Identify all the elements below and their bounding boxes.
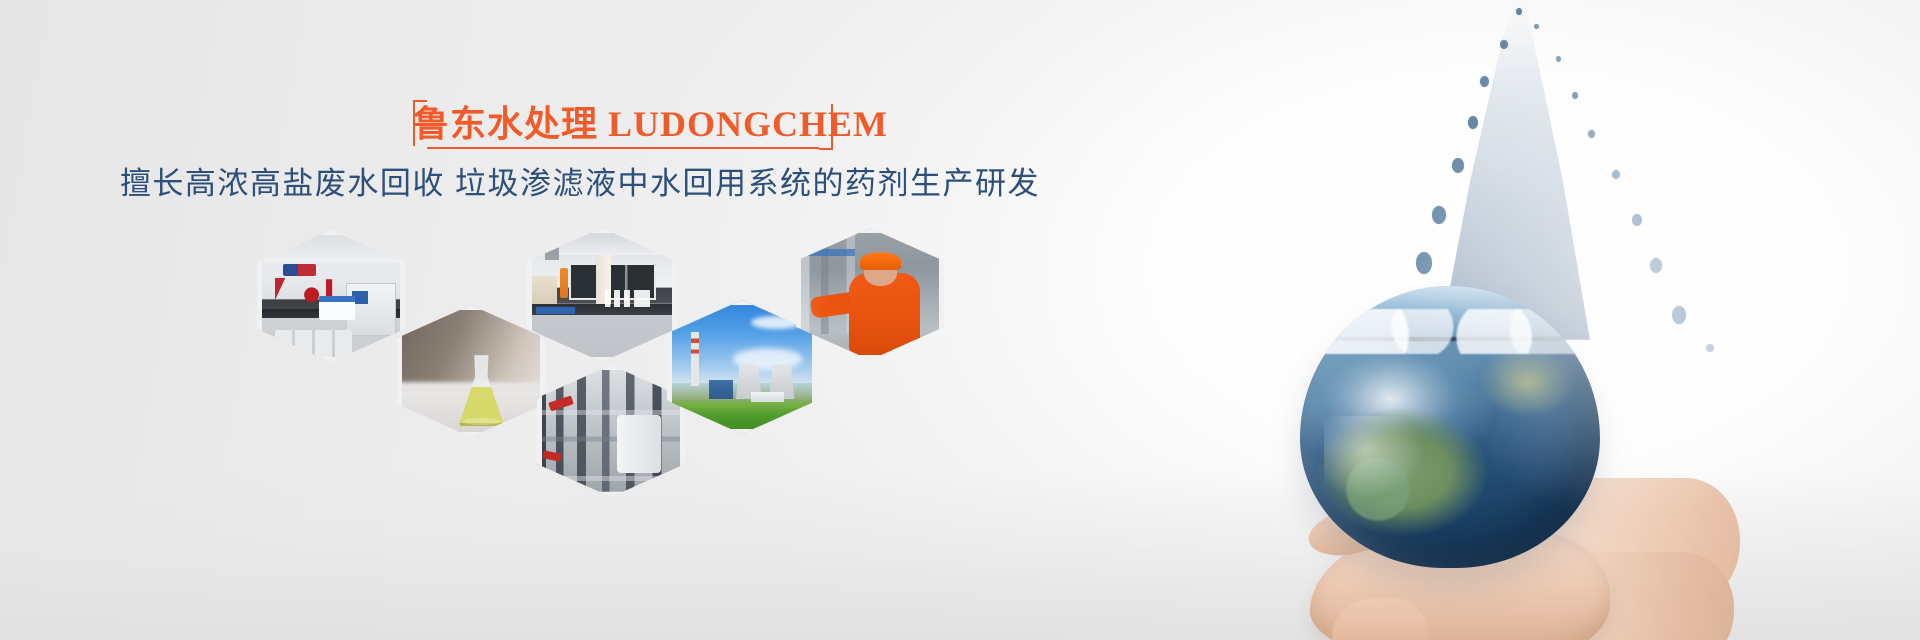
- glassware-bottles: [605, 290, 650, 307]
- lab-jugs: [275, 330, 352, 356]
- globe-foam: [1312, 309, 1588, 354]
- hex-photo-worker: [796, 228, 944, 360]
- green-field: [667, 402, 817, 434]
- ro-rails: [537, 365, 685, 497]
- hex-photo-flask-image: [397, 305, 545, 437]
- hex-photo-power-plant: [667, 300, 817, 434]
- hex-photo-power-plant-image: [667, 300, 817, 434]
- splash-droplet: [1432, 206, 1446, 224]
- splash-droplet: [1480, 76, 1489, 87]
- glassware-beam: [545, 228, 559, 260]
- hex-photo-ro-skid: [537, 365, 685, 497]
- earth-globe-icon: [1300, 286, 1600, 568]
- globe-and-hands: [1300, 268, 1630, 568]
- glassware-orange-stand: [560, 268, 568, 297]
- hex-photo-worker-image: [796, 228, 944, 360]
- splash-droplet: [1452, 158, 1464, 173]
- hex-photo-lab-glassware-image: [527, 228, 677, 362]
- splash-droplet: [1556, 56, 1561, 62]
- splash-droplet: [1468, 116, 1478, 129]
- glassware-ceiling: [527, 228, 677, 255]
- globe-highlight: [1324, 416, 1426, 501]
- hex-photo-lab-room: [257, 230, 405, 362]
- lab-ceiling: [257, 230, 405, 262]
- splash-droplet: [1650, 258, 1662, 273]
- hex-photo-ro-skid-image: [537, 365, 685, 497]
- hexagon-photo-cluster: [0, 0, 1140, 640]
- hex-photo-flask: [397, 305, 545, 437]
- lab-machine: [319, 296, 355, 320]
- splash-droplet: [1534, 24, 1539, 29]
- hex-photo-lab-room-image: [257, 230, 405, 362]
- hero-banner: 鲁东水处理 LUDONGCHEM 擅长高浓高盐废水回收 垃圾渗滤液中水回用系统的…: [0, 0, 1920, 640]
- ro-membrane-vessel: [617, 415, 661, 473]
- hex-photo-lab-glassware: [527, 228, 677, 362]
- splash-droplet: [1500, 40, 1508, 49]
- safety-helmet-icon: [860, 252, 901, 270]
- water-globe-artwork: [1170, 0, 1920, 640]
- splash-droplet: [1516, 8, 1522, 15]
- glassware-blue-trim: [536, 307, 575, 314]
- glassware-cabinet: [530, 276, 557, 305]
- splash-droplet: [1706, 344, 1714, 352]
- flask-background-blur: [397, 305, 545, 382]
- smokestack: [691, 332, 699, 386]
- plant-building-blue: [709, 380, 733, 399]
- splash-droplet: [1672, 306, 1686, 324]
- splash-droplet: [1588, 130, 1595, 138]
- splash-droplet: [1632, 214, 1642, 226]
- splash-droplet: [1612, 170, 1620, 179]
- splash-droplet: [1572, 92, 1578, 99]
- worker-blue-pipe: [805, 249, 855, 256]
